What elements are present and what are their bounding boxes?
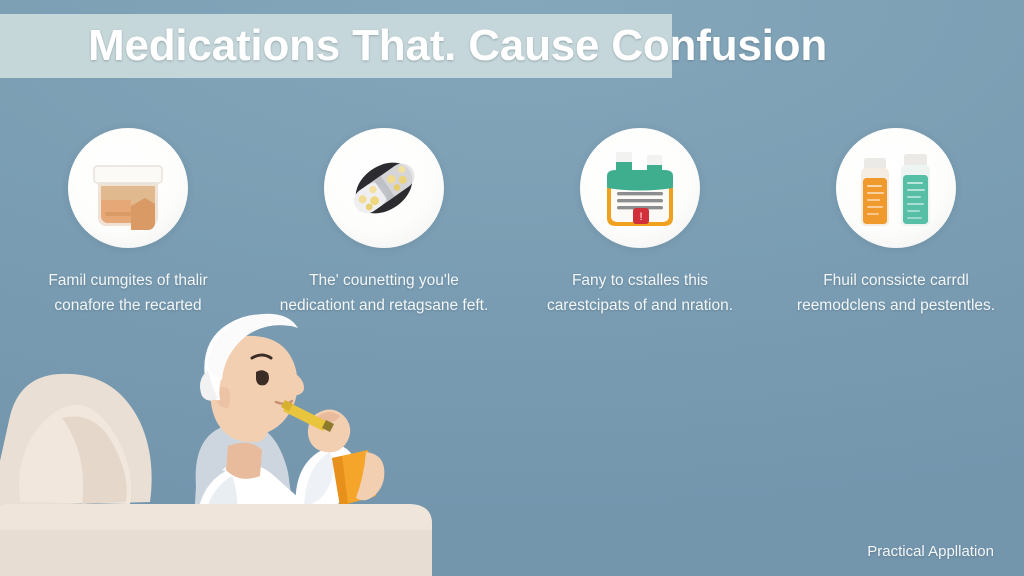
capsule-pill-icon-art (324, 128, 444, 248)
column-3: ! Fany to cstalles this carestcipats of … (512, 128, 768, 318)
column-4: Fhuil conssicte carrdl reemodclens and p… (768, 128, 1024, 318)
capsule-pill-icon (324, 128, 444, 248)
svg-text:!: ! (639, 211, 642, 223)
infographic-poster: Medications That. Cause Confusion Famil … (0, 0, 1024, 576)
medicine-bottles-warning-icon-art: ! (580, 128, 700, 248)
prescription-bottles-icon-art (836, 128, 956, 248)
pill-container-icon (68, 128, 188, 248)
footer-label: Practical Appllation (867, 543, 994, 560)
column-4-text: Fhuil conssicte carrdl reemodclens and p… (789, 268, 1004, 318)
page-title: Medications That. Cause Confusion (88, 16, 988, 76)
column-1: Famil cumgites of thalir conafore the re… (0, 128, 256, 318)
pill-container-icon-art (68, 128, 188, 248)
prescription-bottles-icon (836, 128, 956, 248)
medicine-bottles-warning-icon: ! (580, 128, 700, 248)
column-3-text: Fany to cstalles this carestcipats of an… (533, 268, 748, 318)
column-group: Famil cumgites of thalir conafore the re… (0, 128, 1024, 318)
elderly-man-on-couch (0, 306, 440, 576)
column-2: The' counetting you'le nedicationt and r… (256, 128, 512, 318)
